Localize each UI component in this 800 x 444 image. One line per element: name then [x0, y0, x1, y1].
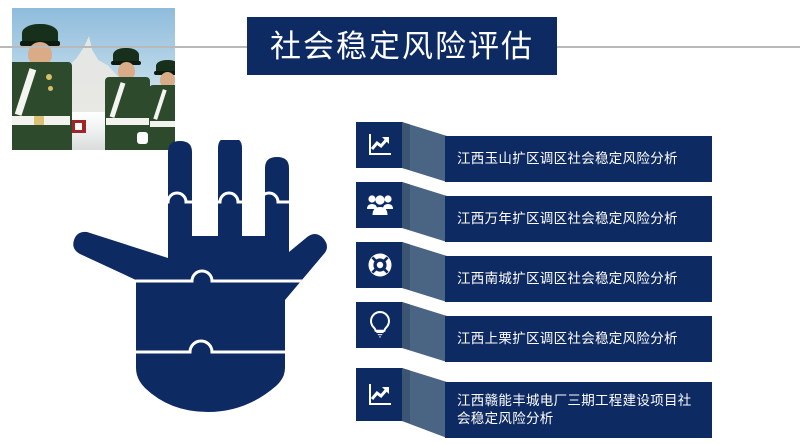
puzzle-hand-svg — [60, 140, 360, 440]
chart-line-up-glyph — [367, 132, 393, 158]
list-item-label: 江西万年扩区调区社会稳定风险分析 — [445, 210, 686, 228]
list-item-bar[interactable]: 江西万年扩区调区社会稳定风险分析 — [445, 196, 712, 242]
slide-canvas: 社会稳定风险评估 — [0, 0, 800, 444]
photo-guard-1 — [12, 22, 74, 150]
row-connector — [402, 122, 447, 182]
list-item-label: 江西上栗扩区调区社会稳定风险分析 — [445, 330, 686, 348]
honor-guard-photo — [12, 8, 175, 150]
chart-line-up-icon — [356, 368, 403, 421]
lifebuoy-icon — [356, 242, 403, 288]
row-connector — [402, 302, 447, 362]
list-item-bar[interactable]: 江西上栗扩区调区社会稳定风险分析 — [445, 316, 712, 362]
list-item-label: 江西南城扩区调区社会稳定风险分析 — [445, 270, 686, 288]
page-title: 社会稳定风险评估 — [247, 17, 557, 75]
chart-line-up-icon — [356, 122, 403, 168]
row-connector — [402, 242, 447, 302]
photo-plaque — [72, 120, 86, 133]
chart-line-up-glyph — [367, 382, 393, 408]
row-connector — [402, 182, 447, 242]
row-connector — [402, 368, 447, 438]
photo-guard-2 — [105, 46, 151, 150]
lightbulb-glyph — [369, 311, 391, 339]
list-item-bar[interactable]: 江西南城扩区调区社会稳定风险分析 — [445, 256, 712, 302]
list-item-bar[interactable]: 江西玉山扩区调区社会稳定风险分析 — [445, 136, 712, 182]
people-group-icon — [356, 182, 403, 228]
list-item-label: 江西玉山扩区调区社会稳定风险分析 — [445, 150, 686, 168]
page-title-text: 社会稳定风险评估 — [270, 31, 534, 62]
hand-pieces — [60, 140, 360, 440]
risk-analysis-list: 江西玉山扩区调区社会稳定风险分析 江西万年扩区调区社会稳定风险分 — [356, 110, 726, 440]
photo-guard-3 — [149, 58, 175, 150]
list-item-label: 江西赣能丰城电厂三期工程建设项目社会稳定风险分析 — [445, 392, 712, 428]
lightbulb-icon — [356, 302, 403, 348]
lifebuoy-glyph — [367, 252, 393, 278]
puzzle-hand-graphic — [60, 140, 360, 440]
people-group-glyph — [367, 194, 393, 216]
list-item-bar[interactable]: 江西赣能丰城电厂三期工程建设项目社会稳定风险分析 — [445, 382, 712, 438]
